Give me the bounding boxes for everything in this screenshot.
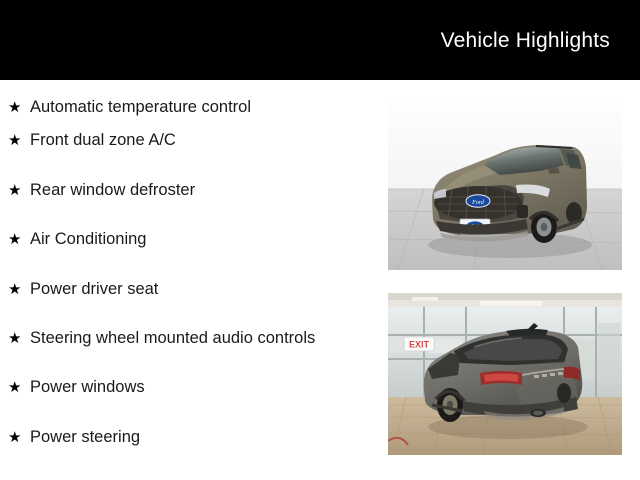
list-item: ★ Air Conditioning	[0, 228, 380, 277]
list-item: ★ Power windows	[0, 376, 380, 425]
star-icon: ★	[8, 328, 30, 350]
list-item: ★ Steering wheel mounted audio controls	[0, 327, 380, 376]
star-icon: ★	[8, 427, 30, 449]
star-icon: ★	[8, 180, 30, 202]
vehicle-front-illustration: Ford Ford	[388, 93, 622, 270]
list-item-label: Automatic temperature control	[30, 96, 380, 118]
exit-sign-text: EXIT	[409, 340, 430, 350]
vehicle-rear-photo: EXIT	[388, 293, 622, 455]
vehicle-front-photo: Ford Ford	[388, 93, 622, 270]
vehicle-rear-illustration: EXIT	[388, 293, 622, 455]
star-icon: ★	[8, 130, 30, 152]
list-item-label: Rear window defroster	[30, 179, 380, 201]
list-item-label: Air Conditioning	[30, 228, 380, 250]
vehicle-highlights-list: ★ Automatic temperature control ★ Front …	[0, 80, 380, 480]
page-title: Vehicle Highlights	[441, 29, 610, 53]
list-item-label: Power driver seat	[30, 278, 380, 300]
list-item-label: Power steering	[30, 426, 380, 448]
star-icon: ★	[8, 377, 30, 399]
list-item: ★ Automatic temperature control	[0, 80, 380, 129]
list-item-label: Front dual zone A/C	[30, 129, 380, 151]
vehicle-highlights-slide: Vehicle Highlights ★ Automatic temperatu…	[0, 0, 640, 480]
list-item: ★ Power driver seat	[0, 278, 380, 327]
list-item: ★ Power steering	[0, 426, 380, 475]
list-item-label: Steering wheel mounted audio controls	[30, 327, 380, 349]
star-icon: ★	[8, 97, 30, 119]
list-item: ★ Rear window defroster	[0, 179, 380, 228]
list-item-label: Power windows	[30, 376, 380, 398]
header-bar: Vehicle Highlights	[0, 0, 640, 80]
list-item: ★ Front dual zone A/C	[0, 129, 380, 178]
star-icon: ★	[8, 229, 30, 251]
star-icon: ★	[8, 279, 30, 301]
svg-text:Ford: Ford	[471, 200, 485, 206]
